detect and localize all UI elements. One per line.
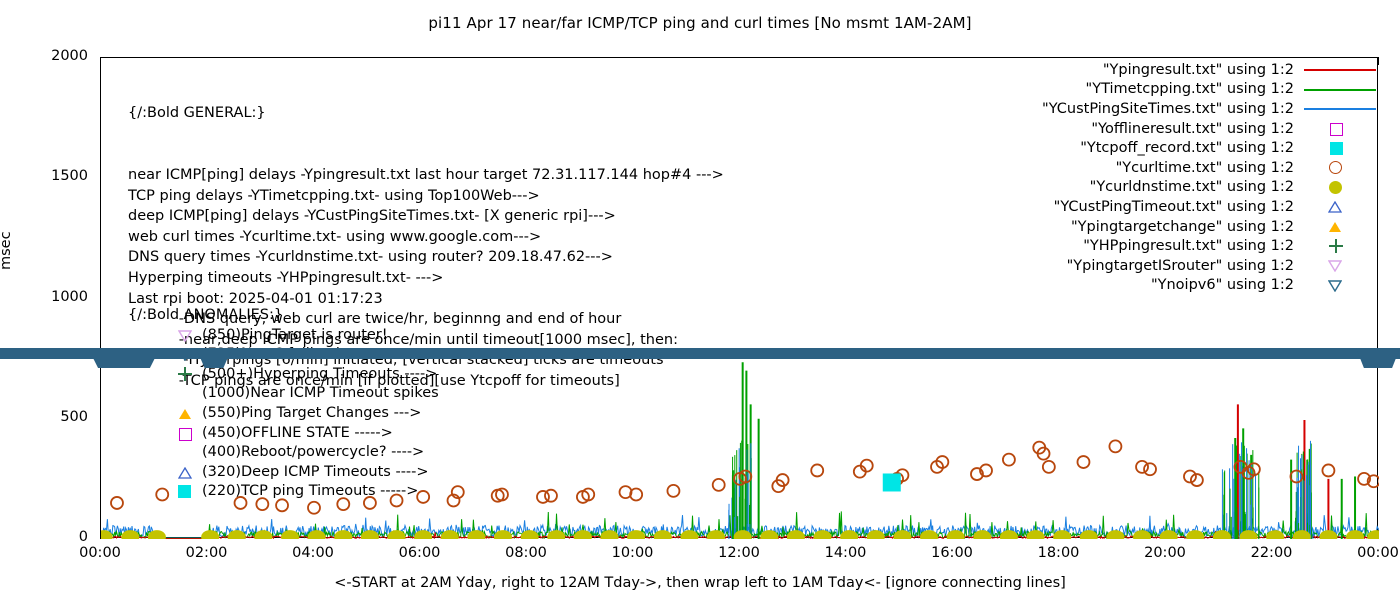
x-tick-label: 16:00 (931, 545, 973, 561)
anomaly-label: (850)PingTarget is router! (202, 326, 388, 346)
x-tick-label: 00:00 (1357, 545, 1399, 561)
legend-label: "YHPpingresult.txt" using 1:2 (1083, 238, 1294, 254)
anomaly-row: (850)PingTarget is router! (128, 326, 439, 346)
legend-entry: "Ynoipv6" using 1:2 (980, 276, 1380, 296)
legend-key (1300, 217, 1380, 237)
x-tick-label: 22:00 (1251, 545, 1293, 561)
anomaly-symbol (176, 482, 202, 502)
legend-key (1300, 138, 1380, 158)
anomaly-label: (450)OFFLINE STATE -----> (202, 424, 393, 444)
circle-filled-icon (1329, 181, 1342, 194)
y-tick-label: 500 (0, 409, 88, 425)
anomaly-row: (500+)Hyperping Timeouts ----> (128, 365, 439, 385)
triangle-up-filled-icon (1328, 221, 1342, 233)
legend-label: "Ytcpoff_record.txt" using 1:2 (1080, 140, 1294, 156)
legend-entry: "YCustPingTimeout.txt" using 1:2 (980, 197, 1380, 217)
x-tick-label: 12:00 (718, 545, 760, 561)
legend-entry: "Yofflineresult.txt" using 1:2 (980, 119, 1380, 139)
y-tick-label: 1000 (0, 289, 88, 305)
anomaly-row: (320)Deep ICMP Timeouts ----> (128, 463, 439, 483)
annotation-line: near ICMP[ping] delays -Ypingresult.txt … (128, 165, 724, 186)
legend-entry: "YpingtargetISrouter" using 1:2 (980, 256, 1380, 276)
triangle-up-filled-icon (178, 408, 192, 420)
x-tick-label: 14:00 (825, 545, 867, 561)
plus-icon-h (1329, 245, 1343, 247)
legend-label: "YCustPingSiteTimes.txt" using 1:2 (1042, 101, 1294, 117)
legend-label: "YTimetcpping.txt" using 1:2 (1086, 81, 1294, 97)
circle-open-icon (1329, 161, 1342, 174)
anomaly-row: (220)TCP ping Timeouts -----> (128, 482, 439, 502)
legend-key (1300, 178, 1380, 198)
anomaly-symbol (176, 443, 202, 463)
triangle-down-open-icon (1328, 260, 1342, 272)
banner-tab (88, 348, 160, 368)
anomaly-label: (400)Reboot/powercycle? ----> (202, 443, 424, 463)
anomalies-annotation-block: {/:Bold ANOMALIES:} (850)PingTarget is r… (128, 306, 439, 502)
anomaly-symbol (176, 404, 202, 424)
legend-entry: "Ypingresult.txt" using 1:2 (980, 60, 1380, 80)
anomaly-row: (550)Ping Target Changes ---> (128, 404, 439, 424)
x-tick-label: 10:00 (612, 545, 654, 561)
anomaly-row: (450)OFFLINE STATE -----> (128, 424, 439, 444)
x-axis-label: <-START at 2AM Yday, right to 12AM Tday-… (0, 575, 1400, 591)
x-tick-label: 00:00 (79, 545, 121, 561)
legend-key (1300, 119, 1380, 139)
anomalies-heading: {/:Bold ANOMALIES:} (128, 306, 439, 326)
triangle-down-open-icon (1328, 280, 1342, 292)
overlay-banner (0, 348, 1400, 359)
anomaly-symbol (176, 326, 202, 346)
x-tick-label: 18:00 (1038, 545, 1080, 561)
legend-key (1300, 276, 1380, 296)
legend-label: "Ynoipv6" using 1:2 (1151, 277, 1294, 293)
legend-label: "Yofflineresult.txt" using 1:2 (1091, 121, 1294, 137)
legend-line-red (1304, 69, 1376, 71)
annotation-line: web curl times -Ycurltime.txt- using www… (128, 227, 724, 248)
legend-key (1300, 60, 1380, 80)
legend-entry: "Ytcpoff_record.txt" using 1:2 (980, 138, 1380, 158)
y-tick-label: 1500 (0, 168, 88, 184)
triangle-down-open-icon (178, 330, 192, 342)
anomaly-label: (550)Ping Target Changes ---> (202, 404, 421, 424)
anomaly-label: (220)TCP ping Timeouts -----> (202, 482, 418, 502)
x-tick-label: 06:00 (399, 545, 441, 561)
triangle-up-open-icon (178, 467, 192, 479)
triangle-up-open-icon (1328, 201, 1342, 213)
anomaly-symbol (176, 463, 202, 483)
legend-entry: "Ycurldnstime.txt" using 1:2 (980, 178, 1380, 198)
annotation-line: DNS query times -Ycurldnstime.txt- using… (128, 247, 724, 268)
annotation-line: TCP ping delays -YTimetcpping.txt- using… (128, 186, 724, 207)
chart-legend: "Ypingresult.txt" using 1:2"YTimetcpping… (980, 60, 1380, 295)
legend-entry: "Ypingtargetchange" using 1:2 (980, 217, 1380, 237)
legend-label: "YCustPingTimeout.txt" using 1:2 (1054, 199, 1294, 215)
y-tick-label: 0 (0, 529, 88, 545)
legend-label: "Ycurldnstime.txt" using 1:2 (1090, 179, 1294, 195)
anomaly-row: (400)Reboot/powercycle? ----> (128, 443, 439, 463)
anomaly-label: (320)Deep ICMP Timeouts ----> (202, 463, 429, 483)
legend-line-blue (1304, 108, 1376, 110)
legend-entry: "Ycurltime.txt" using 1:2 (980, 158, 1380, 178)
legend-key (1300, 99, 1380, 119)
general-heading: {/:Bold GENERAL:} (128, 103, 724, 124)
y-axis-label: msec (0, 231, 14, 270)
square-filled-icon (1330, 142, 1343, 155)
annotation-line: Hyperping timeouts -YHPpingresult.txt- -… (128, 268, 724, 289)
legend-key (1300, 197, 1380, 217)
legend-label: "YpingtargetISrouter" using 1:2 (1067, 258, 1294, 274)
legend-label: "Ypingresult.txt" using 1:2 (1103, 62, 1294, 78)
square-open-icon (179, 428, 192, 441)
x-tick-label: 04:00 (292, 545, 334, 561)
legend-key (1300, 256, 1380, 276)
anomaly-symbol (176, 424, 202, 444)
x-tick-label: 02:00 (186, 545, 228, 561)
legend-line-green (1304, 89, 1376, 91)
annotation-line: deep ICMP[ping] delays -YCustPingSiteTim… (128, 206, 724, 227)
legend-label: "Ycurltime.txt" using 1:2 (1116, 160, 1294, 176)
legend-entry: "YTimetcpping.txt" using 1:2 (980, 80, 1380, 100)
legend-key (1300, 80, 1380, 100)
legend-entry: "YHPpingresult.txt" using 1:2 (980, 236, 1380, 256)
anomaly-symbol (176, 365, 202, 385)
x-tick-label: 20:00 (1144, 545, 1186, 561)
plus-icon-h (178, 373, 192, 375)
anomaly-label: (500+)Hyperping Timeouts ----> (202, 365, 437, 385)
legend-key (1300, 158, 1380, 178)
anomaly-label: (1000)Near ICMP Timeout spikes (202, 384, 439, 404)
square-open-icon (1330, 123, 1343, 136)
y-tick-label: 2000 (0, 48, 88, 64)
square-filled-icon (178, 485, 191, 498)
legend-label: "Ypingtargetchange" using 1:2 (1071, 219, 1294, 235)
legend-key (1300, 236, 1380, 256)
x-tick-label: 08:00 (505, 545, 547, 561)
anomaly-symbol (176, 384, 202, 404)
anomaly-row: (1000)Near ICMP Timeout spikes (128, 384, 439, 404)
page-title: pi11 Apr 17 near/far ICMP/TCP ping and c… (0, 14, 1400, 32)
legend-entry: "YCustPingSiteTimes.txt" using 1:2 (980, 99, 1380, 119)
